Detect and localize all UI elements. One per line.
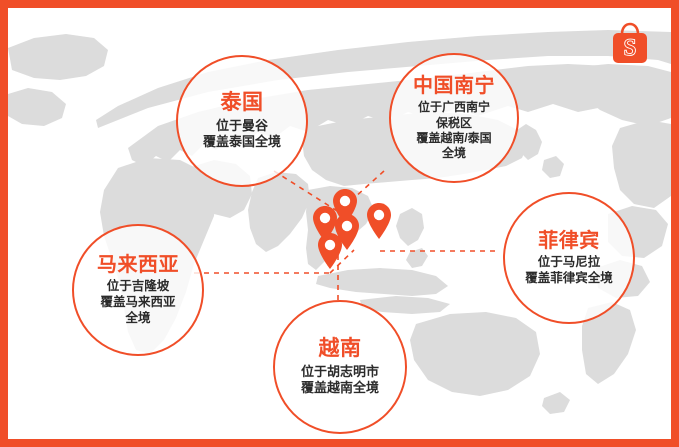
- svg-text:S: S: [624, 35, 637, 60]
- callout-philippines-line-1: 位于马尼拉: [525, 255, 613, 271]
- callout-nanning-line-4: 全境: [416, 146, 491, 161]
- callout-nanning-line-2: 保税区: [416, 116, 491, 131]
- infographic-page: 泰国 位于曼谷 覆盖泰国全境 中国南宁 位于广西南宁 保税区 覆盖越南/泰国 全…: [0, 0, 679, 447]
- callout-malaysia-line-1: 位于吉隆坡: [100, 279, 175, 295]
- callout-philippines-title: 菲律宾: [538, 230, 600, 252]
- callout-thailand-title: 泰国: [221, 91, 264, 115]
- callout-thailand-line-2: 覆盖泰国全境: [203, 134, 281, 150]
- callout-nanning-line-1: 位于广西南宁: [416, 100, 491, 115]
- callout-nanning-line-3: 覆盖越南/泰国: [416, 131, 491, 146]
- callout-vietnam[interactable]: 越南 位于胡志明市 覆盖越南全境: [273, 300, 407, 434]
- callout-vietnam-line-1: 位于胡志明市: [301, 364, 379, 380]
- callout-malaysia-title: 马来西亚: [97, 254, 179, 276]
- callout-malaysia-line-2: 覆盖马来西亚: [100, 295, 175, 311]
- callout-malaysia-line-3: 全境: [100, 311, 175, 327]
- callout-philippines-desc: 位于马尼拉 覆盖菲律宾全境: [525, 255, 613, 287]
- map-pin-manila[interactable]: [365, 202, 393, 240]
- infographic-canvas: 泰国 位于曼谷 覆盖泰国全境 中国南宁 位于广西南宁 保税区 覆盖越南/泰国 全…: [8, 8, 671, 439]
- callout-malaysia[interactable]: 马来西亚 位于吉隆坡 覆盖马来西亚 全境: [72, 224, 204, 356]
- callout-vietnam-title: 越南: [319, 337, 362, 361]
- map-pin-kualalumpur[interactable]: [316, 232, 344, 270]
- callout-vietnam-desc: 位于胡志明市 覆盖越南全境: [301, 364, 379, 397]
- callout-vietnam-line-2: 覆盖越南全境: [301, 380, 379, 396]
- callout-philippines-line-2: 覆盖菲律宾全境: [525, 271, 613, 287]
- callout-philippines[interactable]: 菲律宾 位于马尼拉 覆盖菲律宾全境: [503, 192, 635, 324]
- callout-thailand-line-1: 位于曼谷: [203, 118, 281, 134]
- callout-nanning-title: 中国南宁: [413, 75, 495, 97]
- callout-nanning-desc: 位于广西南宁 保税区 覆盖越南/泰国 全境: [416, 100, 491, 160]
- callout-malaysia-desc: 位于吉隆坡 覆盖马来西亚 全境: [100, 279, 175, 326]
- callout-thailand-desc: 位于曼谷 覆盖泰国全境: [203, 118, 281, 151]
- callout-nanning[interactable]: 中国南宁 位于广西南宁 保税区 覆盖越南/泰国 全境: [389, 53, 519, 183]
- callout-thailand[interactable]: 泰国 位于曼谷 覆盖泰国全境: [176, 55, 308, 187]
- shopee-logo-icon: S: [609, 21, 651, 65]
